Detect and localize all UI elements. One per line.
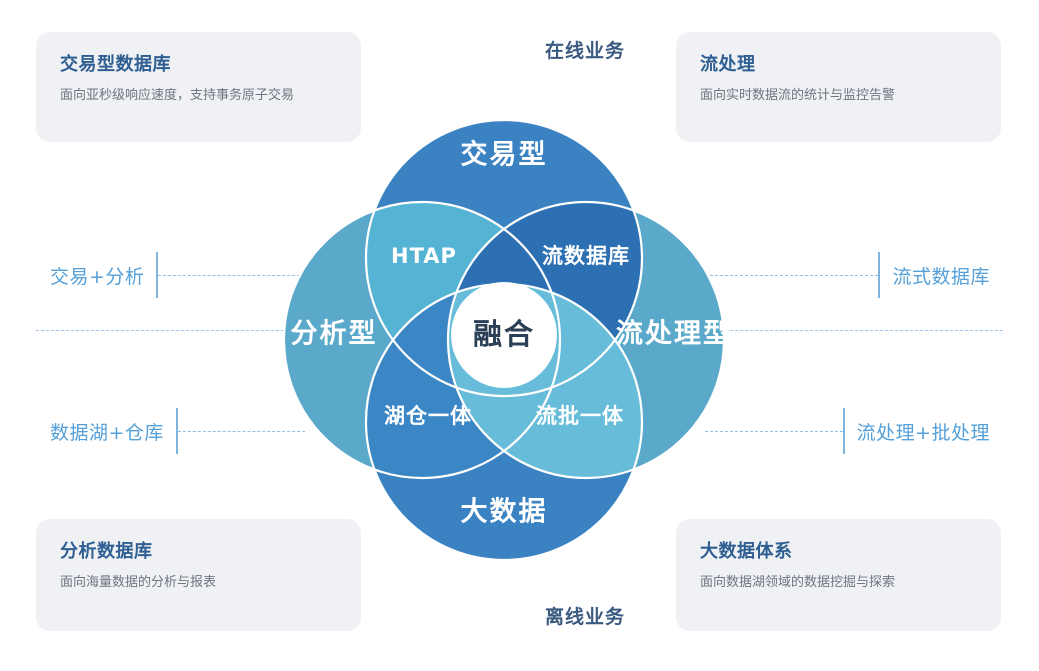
venn-label-stream-batch: 流批一体 — [536, 404, 624, 428]
venn-label-core: 融合 — [473, 317, 535, 351]
card-title: 流处理 — [700, 54, 977, 76]
tick-mark — [878, 252, 880, 298]
side-label-text: 数据湖+仓库 — [50, 418, 164, 445]
venn-label-stream-db: 流数据库 — [542, 244, 630, 268]
venn-label-streaming: 流处理型 — [616, 319, 732, 350]
side-label-text: 流式数据库 — [892, 262, 990, 289]
venn-label-transactional: 交易型 — [461, 139, 548, 171]
axis-caption-online: 在线业务 — [545, 36, 625, 63]
venn-diagram: 交易型 分析型 流处理型 大数据 HTAP 流数据库 湖仓一体 流批一体 融合 — [250, 76, 770, 606]
venn-label-htap: HTAP — [391, 244, 457, 268]
venn-label-bigdata: 大数据 — [461, 497, 548, 528]
diagram-canvas: 交易型数据库 面向亚秒级响应速度，支持事务原子交易 流处理 面向实时数据流的统计… — [0, 0, 1039, 671]
side-label-text: 交易+分析 — [50, 262, 144, 289]
side-label-text: 流处理+批处理 — [857, 418, 990, 445]
axis-caption-offline: 离线业务 — [545, 602, 625, 629]
card-title: 交易型数据库 — [60, 54, 337, 76]
venn-label-lakehouse: 湖仓一体 — [384, 404, 472, 428]
venn-label-analytical: 分析型 — [291, 319, 378, 350]
tick-mark — [843, 408, 845, 454]
